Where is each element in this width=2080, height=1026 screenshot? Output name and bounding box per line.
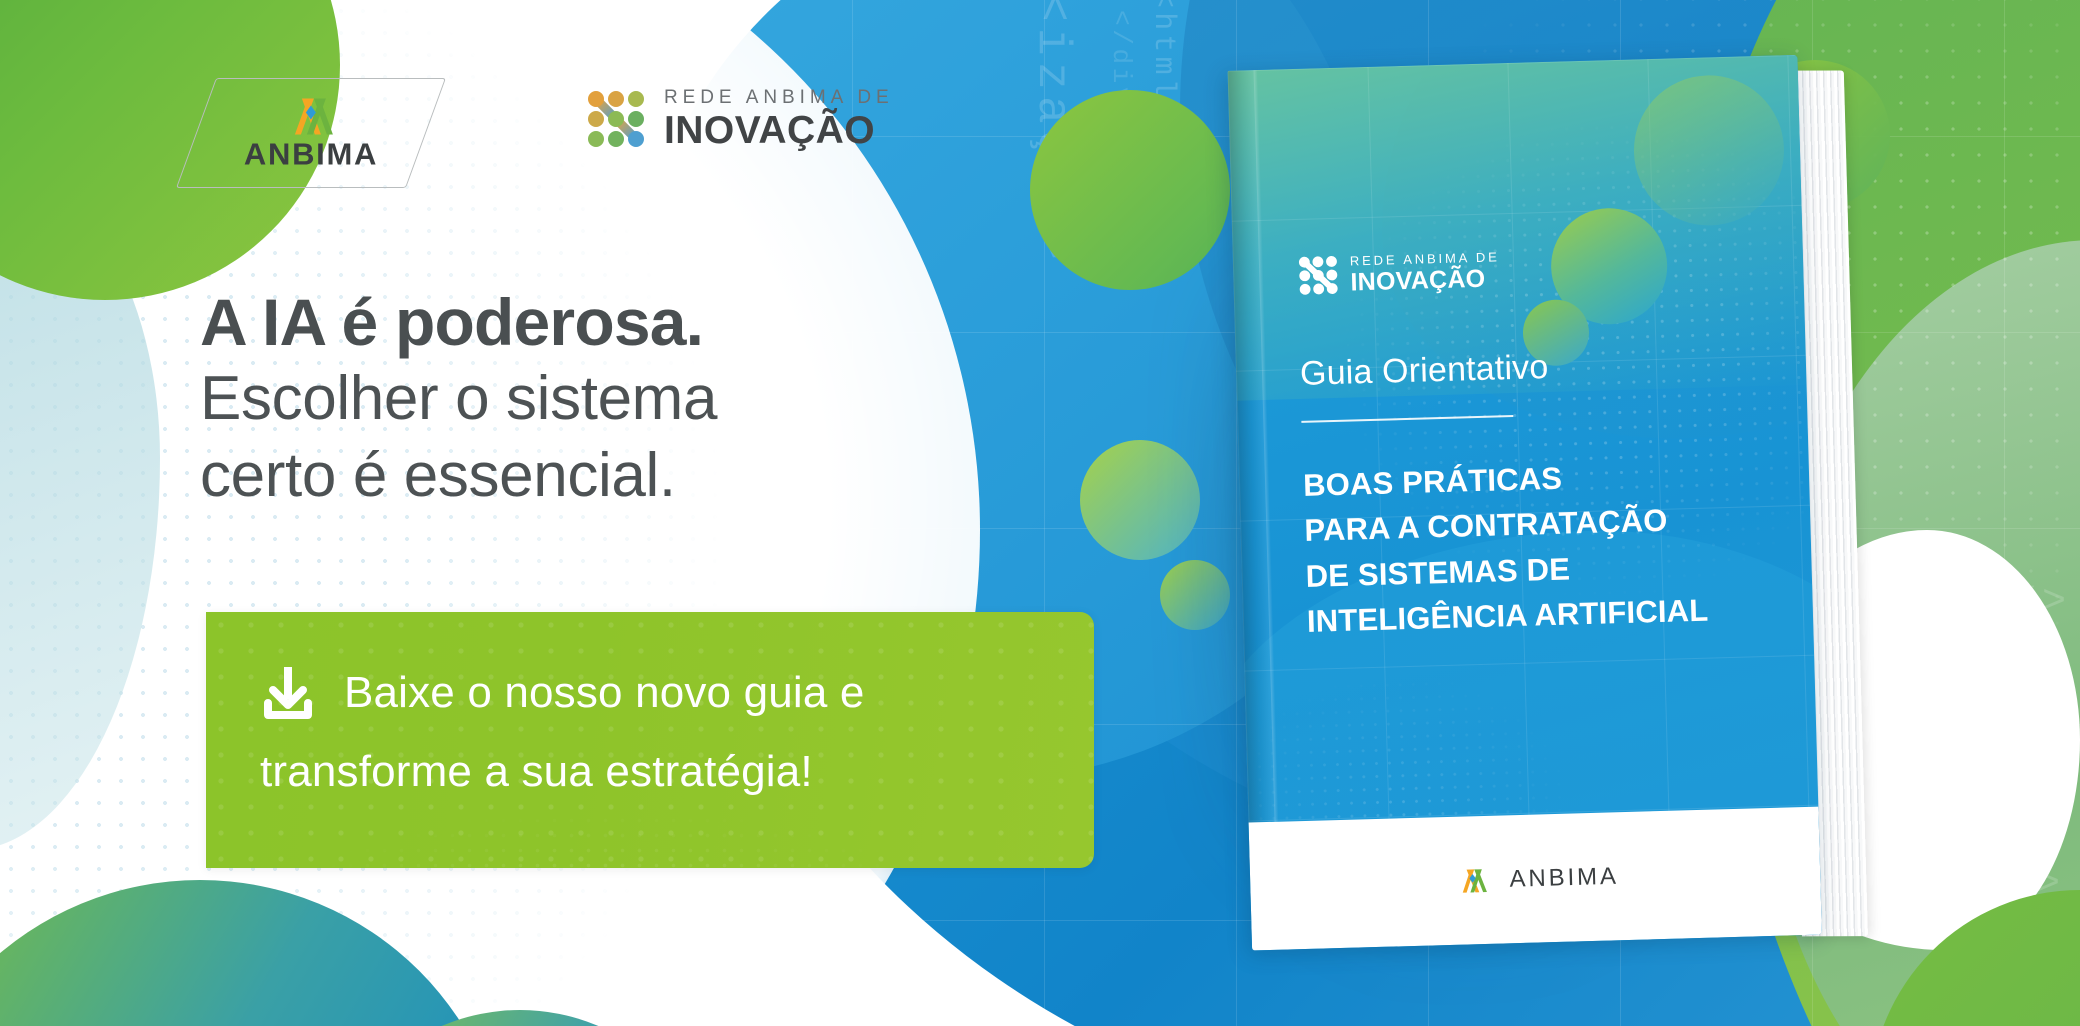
cover-anbima-mark-icon xyxy=(1451,867,1494,893)
cta-first-row: Baixe o nosso novo guia e xyxy=(258,660,1058,725)
download-guide-cta-button[interactable]: Baixe o nosso novo guia e transforme a s… xyxy=(206,612,1094,868)
cover-inovacao-logo: REDE ANBIMA DE INOVAÇÃO xyxy=(1297,242,1768,297)
headline-line-3: certo é essencial. xyxy=(200,439,940,512)
anbima-mark-icon xyxy=(278,97,344,135)
inovacao-dots-icon xyxy=(585,88,647,150)
ebook-mockup: REDE ANBIMA DE INOVAÇÃO Guia Orientativo… xyxy=(1228,54,1873,971)
headline-line-2: Escolher o sistema xyxy=(200,362,940,435)
headline-line-1: A IA é poderosa. xyxy=(200,288,940,358)
inovacao-logo: REDE ANBIMA DE INOVAÇÃO xyxy=(585,88,894,150)
anbima-logo-frame: ANBIMA xyxy=(196,78,426,188)
cover-logo-text: REDE ANBIMA DE INOVAÇÃO xyxy=(1350,250,1501,295)
cover-content: REDE ANBIMA DE INOVAÇÃO Guia Orientativo… xyxy=(1292,56,1778,644)
cta-content: Baixe o nosso novo guia e transforme a s… xyxy=(206,612,1094,804)
inovacao-subtitle: REDE ANBIMA DE xyxy=(664,88,894,107)
inovacao-text: REDE ANBIMA DE INOVAÇÃO xyxy=(664,88,894,150)
book-cover: REDE ANBIMA DE INOVAÇÃO Guia Orientativo… xyxy=(1228,55,1822,951)
cover-inovacao-dots-icon xyxy=(1297,254,1340,297)
headline-block: A IA é poderosa. Escolher o sistema cert… xyxy=(200,288,940,512)
cover-footer: ANBIMA xyxy=(1249,807,1822,951)
anbima-wordmark: ANBIMA xyxy=(244,139,378,170)
cta-second-row: transforme a sua estratégia! xyxy=(258,739,1058,804)
cta-label-line-1: Baixe o nosso novo guia e xyxy=(344,660,865,725)
anbima-lockup: ANBIMA xyxy=(244,97,378,170)
cover-anbima-logo: ANBIMA xyxy=(1451,864,1619,894)
cta-label-line-2: transforme a sua estratégia! xyxy=(260,747,813,796)
inovacao-title: INOVAÇÃO xyxy=(664,111,894,150)
cover-kicker: Guia Orientativo xyxy=(1300,344,1771,391)
cover-anbima-wordmark: ANBIMA xyxy=(1509,864,1619,891)
download-icon xyxy=(258,663,318,723)
cover-logo-title: INOVAÇÃO xyxy=(1350,266,1500,295)
cover-divider xyxy=(1301,415,1513,423)
cover-title: BOAS PRÁTICAS PARA A CONTRATAÇÃO DE SIST… xyxy=(1303,450,1778,644)
promo-banner: <ização> <html> </div> </html> </b> <iza… xyxy=(0,0,2080,1026)
